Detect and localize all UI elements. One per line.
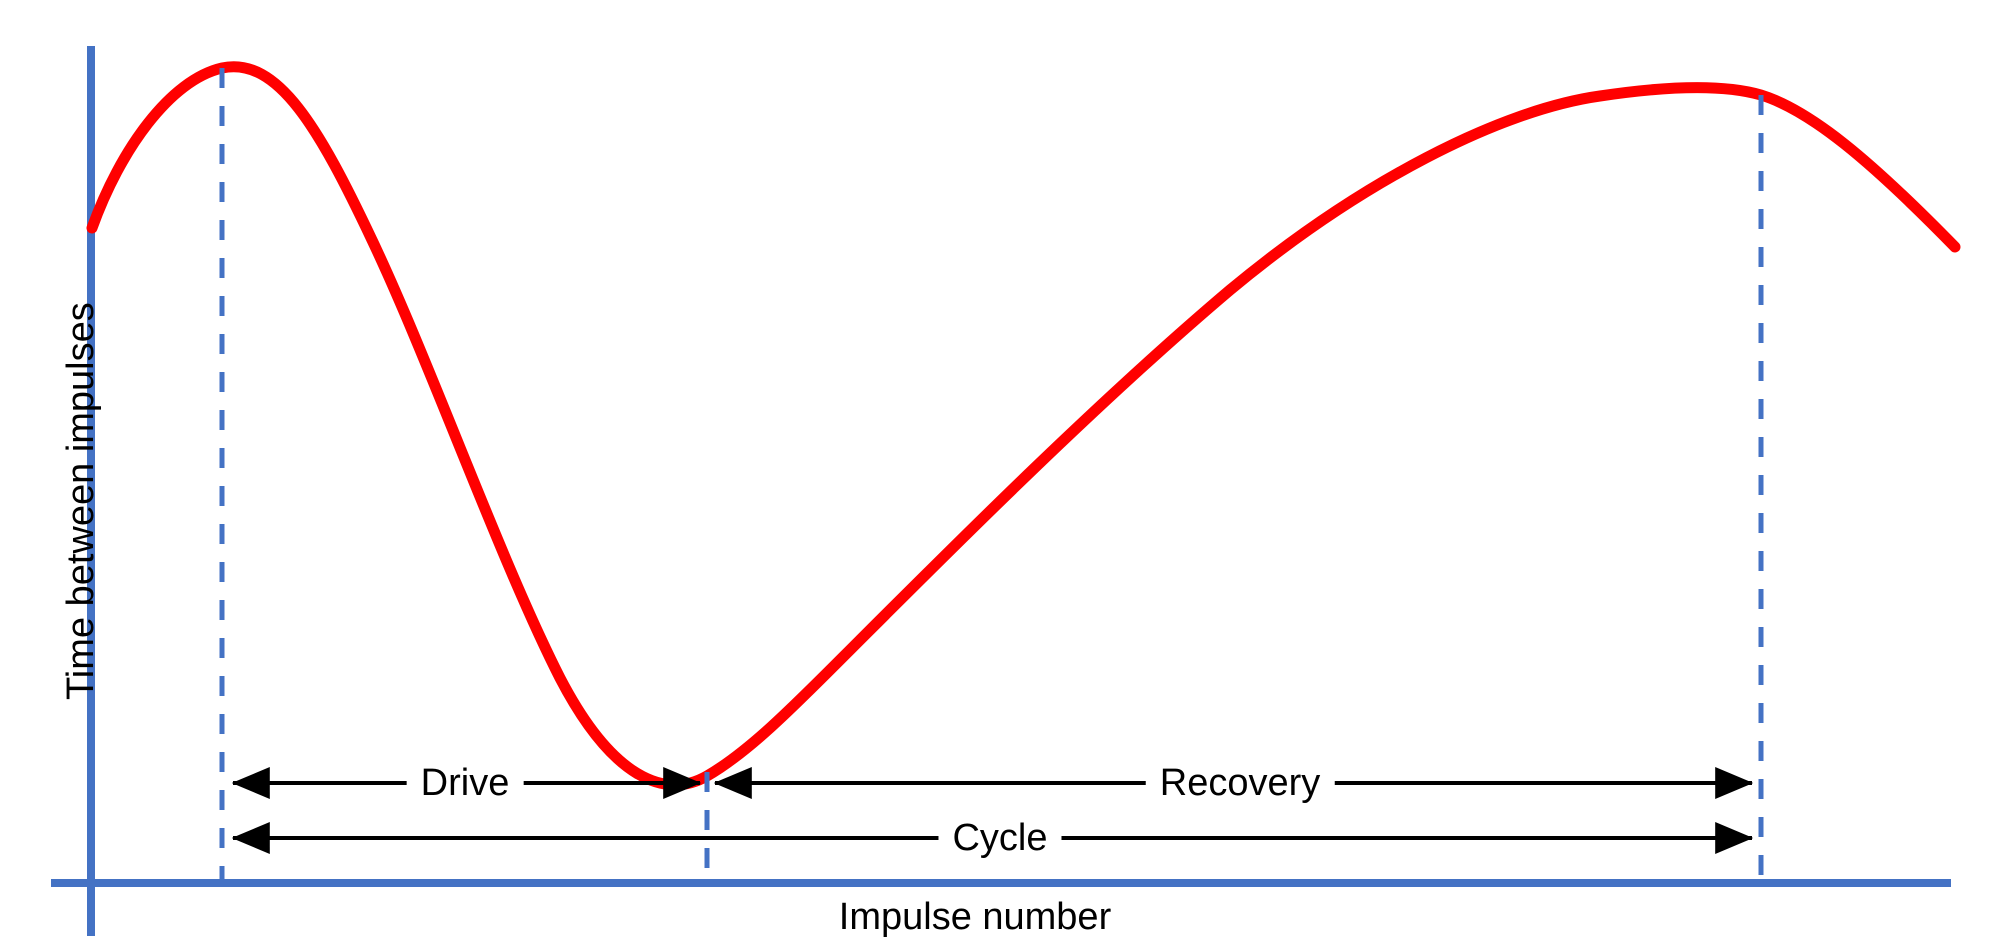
chart-graphic (0, 0, 2000, 948)
annotation-label-recovery: Recovery (1146, 764, 1335, 802)
x-axis-title: Impulse number (0, 898, 1975, 936)
data-series-group (92, 67, 1955, 785)
y-axis-title: Time between impulses (62, 302, 100, 700)
annotation-label-cycle: Cycle (938, 819, 1061, 857)
chart-canvas: Time between impulses Impulse number Dri… (0, 0, 2000, 948)
marker-lines-group (222, 68, 1761, 880)
time-between-impulses-curve (92, 67, 1955, 785)
annotation-label-drive: Drive (407, 764, 524, 802)
